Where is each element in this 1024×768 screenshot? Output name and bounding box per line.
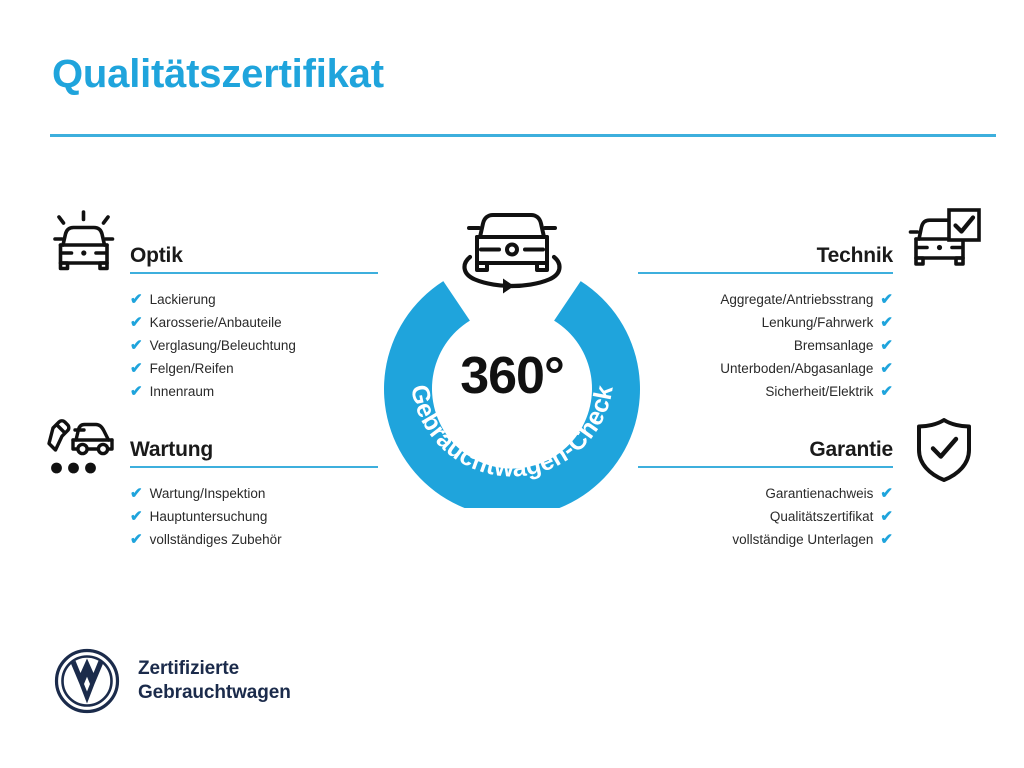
section-head: Optik <box>130 238 378 274</box>
list-item-label: Verglasung/Beleuchtung <box>150 338 296 353</box>
shield-check-icon <box>913 416 975 489</box>
section-divider <box>638 466 893 468</box>
car-rotate-icon <box>465 215 560 294</box>
check-icon: ✔ <box>880 486 893 501</box>
list-item: ✔Wartung/Inspektion <box>130 482 378 505</box>
volkswagen-logo <box>54 648 120 714</box>
list-item: Qualitätszertifikat✔ <box>638 505 893 528</box>
section-head: Wartung <box>130 432 378 468</box>
section-divider <box>130 272 378 274</box>
check-icon: ✔ <box>880 292 893 307</box>
list-item: ✔Verglasung/Beleuchtung <box>130 334 378 357</box>
section-divider <box>638 272 893 274</box>
check-icon: ✔ <box>880 509 893 524</box>
car-front-checkbox-icon <box>905 206 983 281</box>
list-item: Sicherheit/Elektrik✔ <box>638 380 893 403</box>
check-icon: ✔ <box>880 338 893 353</box>
360-check-badge: Gebrauchtwagen-Check <box>374 196 650 508</box>
list-item-label: vollständige Unterlagen <box>732 532 873 547</box>
footer-line-1: Zertifizierte <box>138 657 291 681</box>
section-title-optik: Optik <box>130 244 183 268</box>
list-item-label: Qualitätszertifikat <box>770 509 874 524</box>
section-garantie: Garantie Garantienachweis✔ Qualitätszert… <box>638 432 893 551</box>
check-icon: ✔ <box>130 315 143 330</box>
list-item: ✔Felgen/Reifen <box>130 357 378 380</box>
list-item-label: vollständiges Zubehör <box>150 532 282 547</box>
check-icon: ✔ <box>130 292 143 307</box>
list-item: ✔Karosserie/Anbauteile <box>130 311 378 334</box>
section-head: Garantie <box>638 432 893 468</box>
footer-line-2: Gebrauchtwagen <box>138 681 291 705</box>
list-item: Aggregate/Antriebsstrang✔ <box>638 288 893 311</box>
section-divider <box>130 466 378 468</box>
check-icon: ✔ <box>130 532 143 547</box>
page-title: Qualitätszertifikat <box>52 52 384 97</box>
checklist-wartung: ✔Wartung/Inspektion ✔Hauptuntersuchung ✔… <box>130 482 378 551</box>
footer-brand: Zertifizierte Gebrauchtwagen <box>54 648 291 714</box>
list-item: Unterboden/Abgasanlage✔ <box>638 357 893 380</box>
check-icon: ✔ <box>880 315 893 330</box>
check-icon: ✔ <box>880 384 893 399</box>
check-icon: ✔ <box>880 361 893 376</box>
list-item: ✔vollständiges Zubehör <box>130 528 378 551</box>
wrench-car-service-icon <box>46 416 124 483</box>
check-icon: ✔ <box>130 384 143 399</box>
list-item: Bremsanlage✔ <box>638 334 893 357</box>
list-item-label: Innenraum <box>150 384 215 399</box>
checklist-garantie: Garantienachweis✔ Qualitätszertifikat✔ v… <box>638 482 893 551</box>
list-item-label: Wartung/Inspektion <box>150 486 266 501</box>
list-item-label: Karosserie/Anbauteile <box>150 315 282 330</box>
list-item-label: Felgen/Reifen <box>150 361 234 376</box>
list-item-label: Hauptuntersuchung <box>150 509 268 524</box>
list-item: Garantienachweis✔ <box>638 482 893 505</box>
list-item: Lenkung/Fahrwerk✔ <box>638 311 893 334</box>
check-icon: ✔ <box>130 509 143 524</box>
section-head: Technik <box>638 238 893 274</box>
list-item-label: Sicherheit/Elektrik <box>765 384 873 399</box>
section-technik: Technik Aggregate/Antriebsstrang✔ Lenkun… <box>638 238 893 403</box>
section-optik: Optik ✔Lackierung ✔Karosserie/Anbauteile… <box>130 238 378 403</box>
footer-text: Zertifizierte Gebrauchtwagen <box>138 657 291 705</box>
check-icon: ✔ <box>130 486 143 501</box>
certificate-page: Qualitätszertifikat <box>0 0 1024 768</box>
list-item-label: Unterboden/Abgasanlage <box>720 361 873 376</box>
list-item-label: Garantienachweis <box>765 486 873 501</box>
section-title-technik: Technik <box>817 244 893 268</box>
check-icon: ✔ <box>130 361 143 376</box>
section-title-wartung: Wartung <box>130 438 213 462</box>
checklist-technik: Aggregate/Antriebsstrang✔ Lenkung/Fahrwe… <box>638 288 893 403</box>
title-divider <box>50 134 996 137</box>
check-icon: ✔ <box>880 532 893 547</box>
check-icon: ✔ <box>130 338 143 353</box>
list-item-label: Lackierung <box>150 292 216 307</box>
section-wartung: Wartung ✔Wartung/Inspektion ✔Hauptunters… <box>130 432 378 551</box>
list-item: ✔Innenraum <box>130 380 378 403</box>
list-item: ✔Hauptuntersuchung <box>130 505 378 528</box>
list-item-label: Lenkung/Fahrwerk <box>762 315 874 330</box>
list-item: vollständige Unterlagen✔ <box>638 528 893 551</box>
list-item-label: Bremsanlage <box>794 338 874 353</box>
list-item-label: Aggregate/Antriebsstrang <box>720 292 873 307</box>
checklist-optik: ✔Lackierung ✔Karosserie/Anbauteile ✔Verg… <box>130 288 378 403</box>
section-title-garantie: Garantie <box>809 438 893 462</box>
car-front-shine-icon <box>46 206 122 285</box>
list-item: ✔Lackierung <box>130 288 378 311</box>
